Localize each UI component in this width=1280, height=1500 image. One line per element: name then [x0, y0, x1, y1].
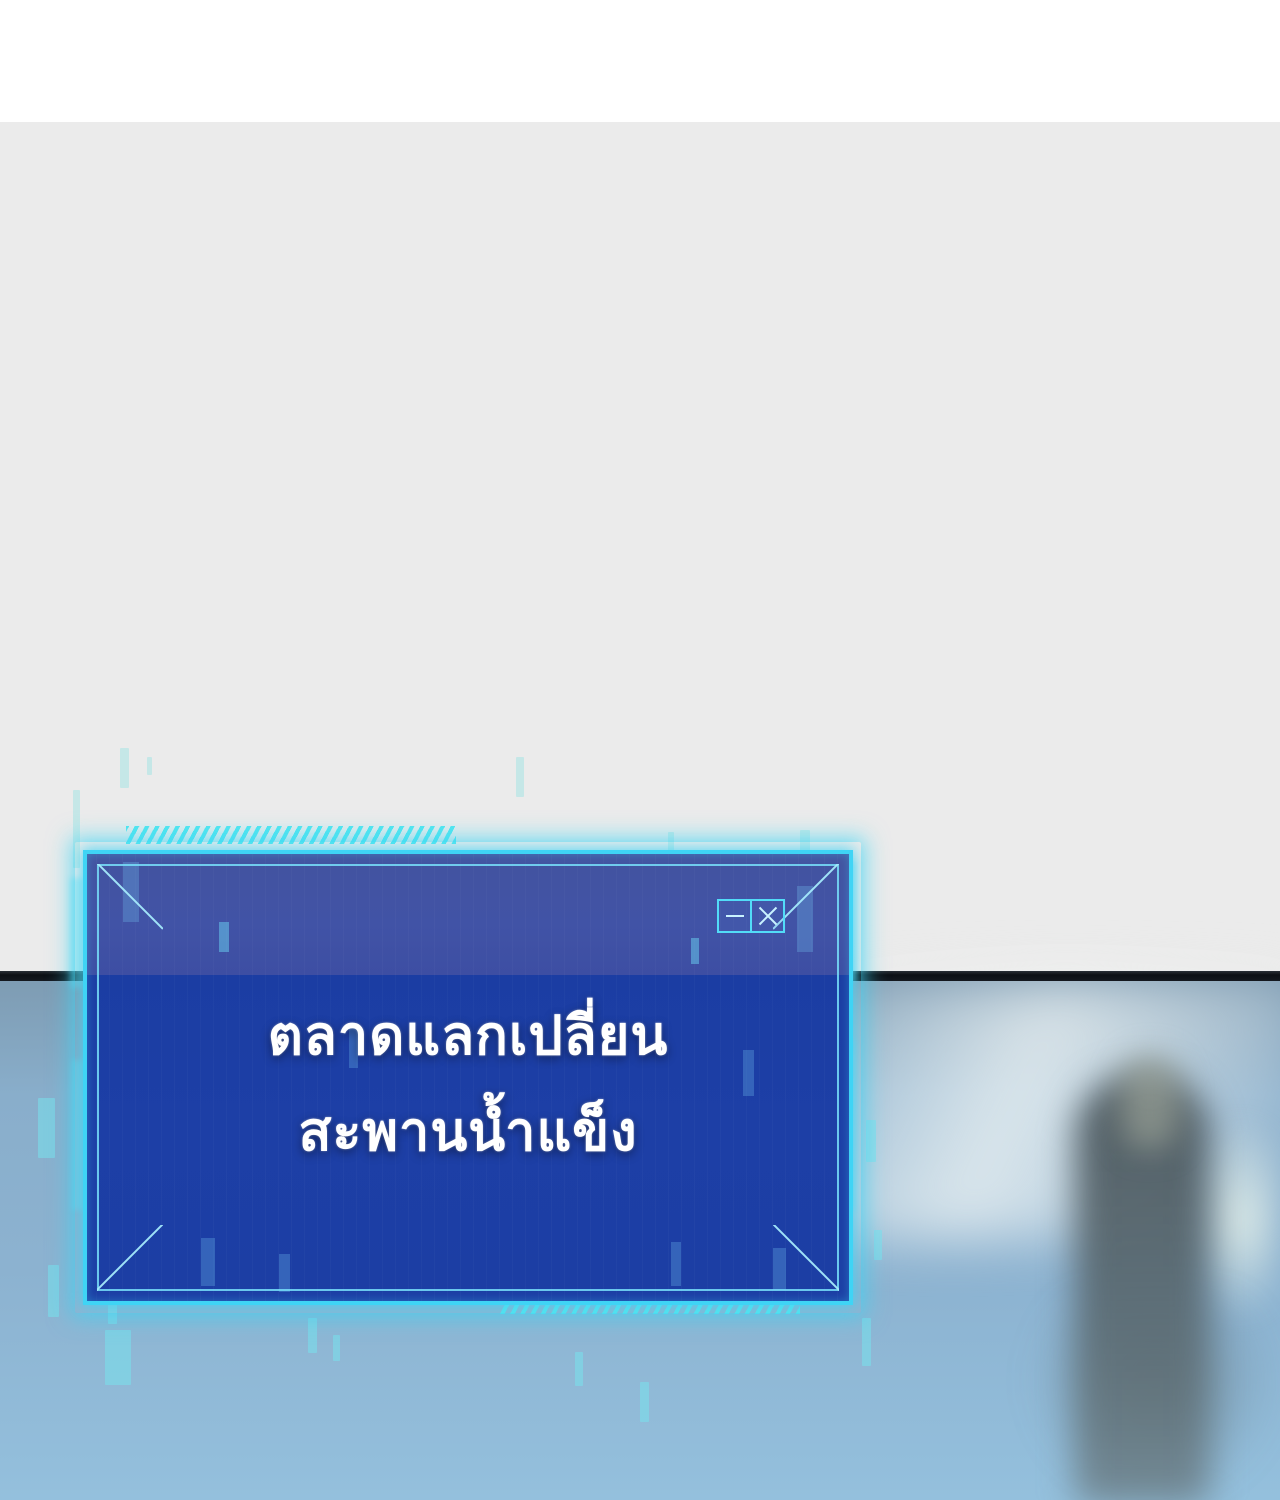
corner-bracket-bottom-right: [773, 1225, 839, 1291]
hatch-decor-top: [126, 826, 456, 844]
panel-title: ตลาดแลกเปลี่ยน สะพานน้ำแข็ง: [83, 988, 853, 1180]
cyan-light-streak: [38, 1098, 55, 1158]
cyan-light-streak: [575, 1352, 583, 1386]
cyan-light-streak: [48, 1265, 59, 1317]
cyan-light-streak: [105, 1330, 131, 1385]
top-white-band: [0, 0, 1280, 122]
corner-bracket-top-left: [97, 864, 163, 930]
cyan-light-streak: [862, 1318, 871, 1366]
cyan-light-streak: [874, 1230, 882, 1260]
minimize-button[interactable]: [717, 899, 752, 933]
cyan-light-streak: [516, 757, 524, 797]
corner-bracket-bottom-left: [97, 1225, 163, 1291]
panel-glow-halo-left: [70, 878, 84, 988]
cyan-light-streak: [866, 1120, 876, 1162]
cyan-light-streak: [640, 1382, 649, 1422]
close-button[interactable]: [750, 899, 785, 933]
cyan-light-streak: [333, 1335, 340, 1361]
panel-title-line-1: ตลาดแลกเปลี่ยน: [268, 1006, 669, 1066]
panel-title-line-2: สะพานน้ำแข็ง: [83, 1084, 853, 1180]
hud-window-panel[interactable]: ตลาดแลกเปลี่ยน สะพานน้ำแข็ง: [83, 850, 853, 1305]
cyan-light-streak: [147, 757, 152, 775]
screenshot-stage: ตลาดแลกเปลี่ยน สะพานน้ำแข็ง: [0, 0, 1280, 1500]
cyan-light-streak: [120, 748, 129, 788]
minimize-icon: [726, 915, 744, 917]
window-controls[interactable]: [717, 899, 785, 933]
gray-background-band: [0, 122, 1280, 975]
blurred-figure-head: [1120, 1055, 1180, 1150]
cyan-light-streak: [308, 1318, 317, 1353]
cyan-light-streak: [73, 790, 80, 868]
